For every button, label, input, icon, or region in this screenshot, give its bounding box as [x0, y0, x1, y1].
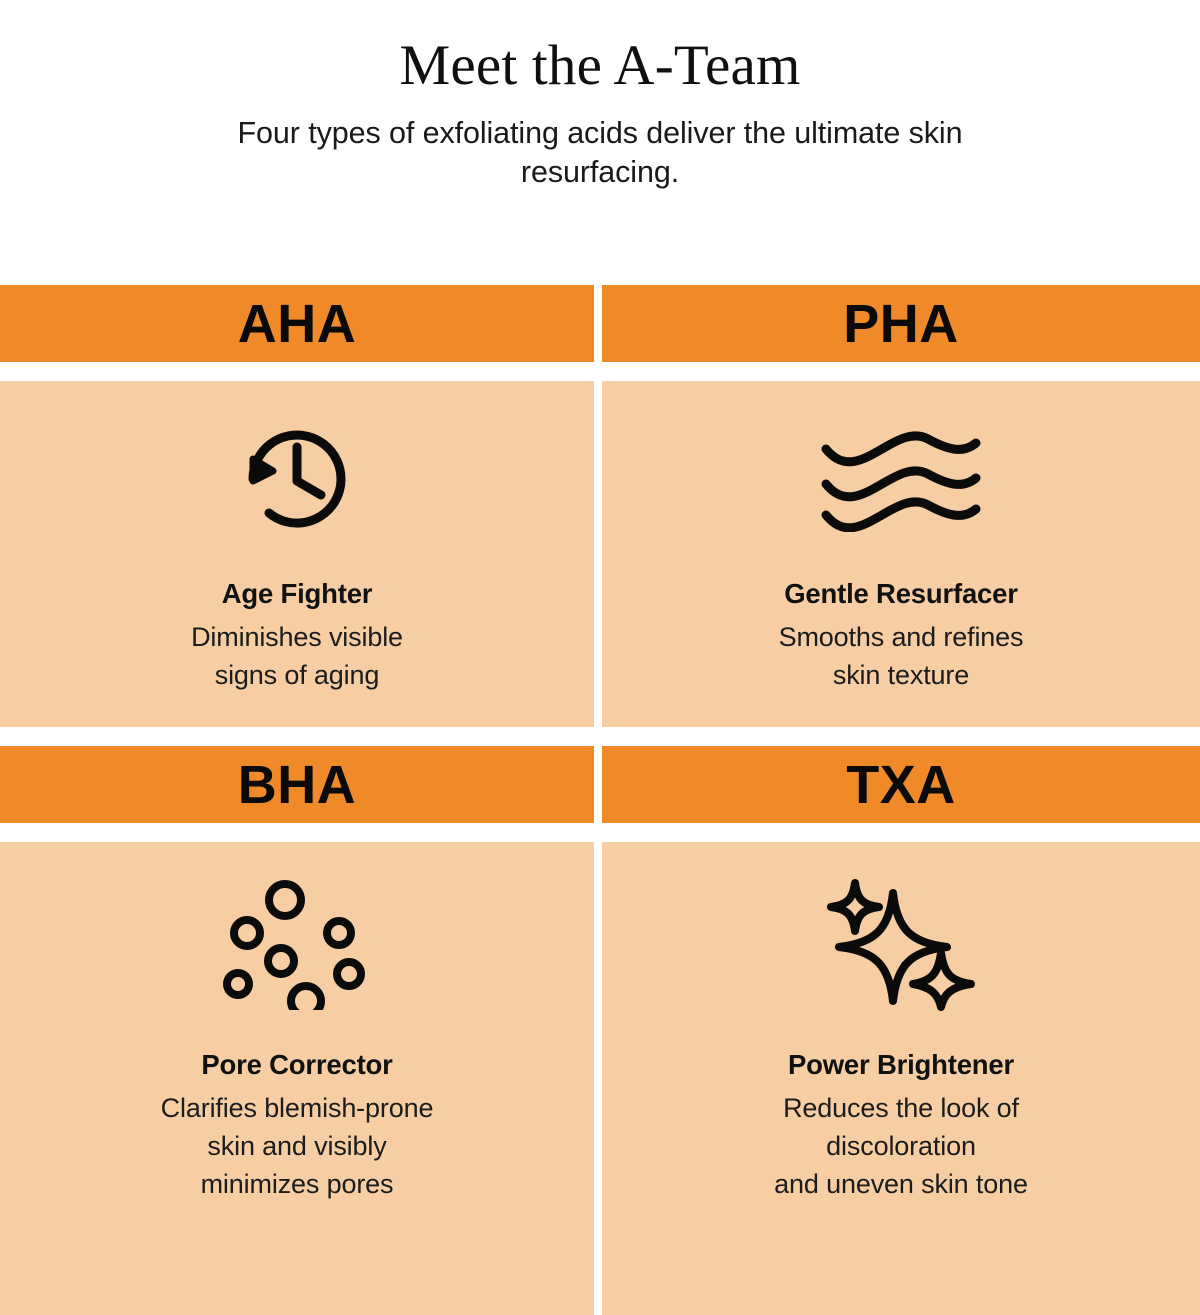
card-gap: [602, 362, 1200, 381]
card-txa-description: Reduces the look of discoloration and un…: [774, 1090, 1028, 1203]
gel-bubble: [36, 84, 43, 91]
pores-circles-icon: [222, 842, 372, 1048]
right-column: PHA Gentle Resurfacer Smooths and refine…: [602, 285, 1200, 1315]
page-subtitle: Four types of exfoliating acids deliver …: [220, 114, 980, 193]
card-txa-header: TXA: [602, 746, 1200, 823]
card-gap: [0, 362, 594, 381]
page-title: Meet the A-Team: [220, 34, 980, 98]
card-pha-acid-label: PHA: [843, 297, 959, 351]
clock-rewind-icon: [233, 381, 361, 577]
card-aha-title: Age Fighter: [222, 577, 373, 610]
card-aha-description: Diminishes visible signs of aging: [191, 619, 403, 695]
card-txa-body: Power Brightener Reduces the look of dis…: [602, 842, 1200, 1315]
card-txa-acid-label: TXA: [846, 758, 956, 812]
card-bha-title: Pore Corrector: [201, 1048, 392, 1081]
card-bha-acid-label: BHA: [238, 758, 357, 812]
column-gutter: [594, 285, 602, 1315]
row-gap: [602, 727, 1200, 746]
gel-speck: [1084, 40, 1089, 45]
card-gap: [602, 823, 1200, 842]
card-aha[interactable]: AHA Age Fighter Diminishes visible signs…: [0, 285, 594, 727]
card-bha-header: BHA: [0, 746, 594, 823]
card-gap: [0, 823, 594, 842]
gel-speck: [1122, 92, 1126, 96]
card-aha-header: AHA: [0, 285, 594, 362]
gel-speck: [1164, 180, 1170, 186]
gel-speck: [1098, 202, 1103, 207]
acid-cards-grid: AHA Age Fighter Diminishes visible signs…: [0, 285, 1200, 1200]
gel-bubble: [182, 72, 188, 78]
gel-bubble: [122, 124, 130, 132]
left-column: AHA Age Fighter Diminishes visible signs…: [0, 285, 594, 1315]
wavy-lines-icon: [816, 381, 986, 577]
row-gap: [0, 727, 594, 746]
card-bha-description: Clarifies blemish-prone skin and visibly…: [161, 1090, 434, 1203]
card-pha-title: Gentle Resurfacer: [784, 577, 1018, 610]
card-pha[interactable]: PHA Gentle Resurfacer Smooths and refine…: [602, 285, 1200, 727]
card-pha-description: Smooths and refines skin texture: [779, 619, 1024, 695]
gel-bubble: [78, 190, 91, 203]
card-pha-body: Gentle Resurfacer Smooths and refines sk…: [602, 381, 1200, 727]
card-aha-acid-label: AHA: [238, 297, 357, 351]
card-bha[interactable]: BHA Pore Corrector Clarifies ble: [0, 746, 594, 1315]
card-bha-body: Pore Corrector Clarifies blemish-prone s…: [0, 842, 594, 1315]
card-txa-title: Power Brightener: [788, 1048, 1014, 1081]
card-txa[interactable]: TXA Power Brightener: [602, 746, 1200, 1315]
card-pha-header: PHA: [602, 285, 1200, 362]
card-aha-body: Age Fighter Diminishes visible signs of …: [0, 381, 594, 727]
gel-speck: [1036, 128, 1040, 132]
sparkles-icon: [825, 842, 977, 1048]
